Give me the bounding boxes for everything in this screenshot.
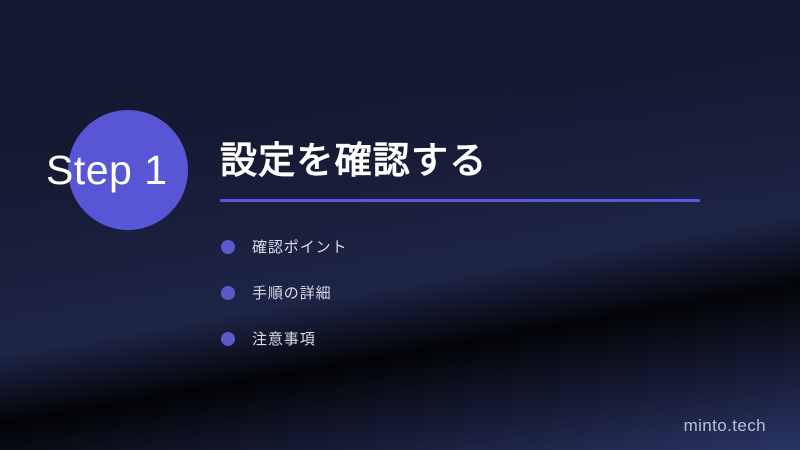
bullet-dot-icon	[221, 286, 235, 300]
bullet-item-label: 注意事項	[252, 332, 316, 347]
bullet-dot-icon	[221, 332, 235, 346]
list-item: 手順の詳細	[220, 270, 720, 316]
slide-content-column: 設定を確認する 確認ポイント 手順の詳細 注意事項	[220, 140, 720, 362]
bullet-list: 確認ポイント 手順の詳細 注意事項	[220, 224, 720, 362]
step-number-label: Step 1	[46, 150, 168, 191]
slide-title: 設定を確認する	[220, 140, 720, 181]
bullet-dot-icon	[221, 240, 235, 254]
slide-canvas: Step 1 設定を確認する 確認ポイント 手順の詳細 注意事項 minto.t…	[0, 0, 800, 450]
list-item: 注意事項	[220, 316, 720, 362]
list-item: 確認ポイント	[220, 224, 720, 270]
title-divider	[220, 199, 700, 202]
bullet-item-label: 確認ポイント	[252, 240, 347, 255]
bullet-item-label: 手順の詳細	[252, 286, 332, 301]
footer-brand-label: minto.tech	[684, 417, 766, 434]
